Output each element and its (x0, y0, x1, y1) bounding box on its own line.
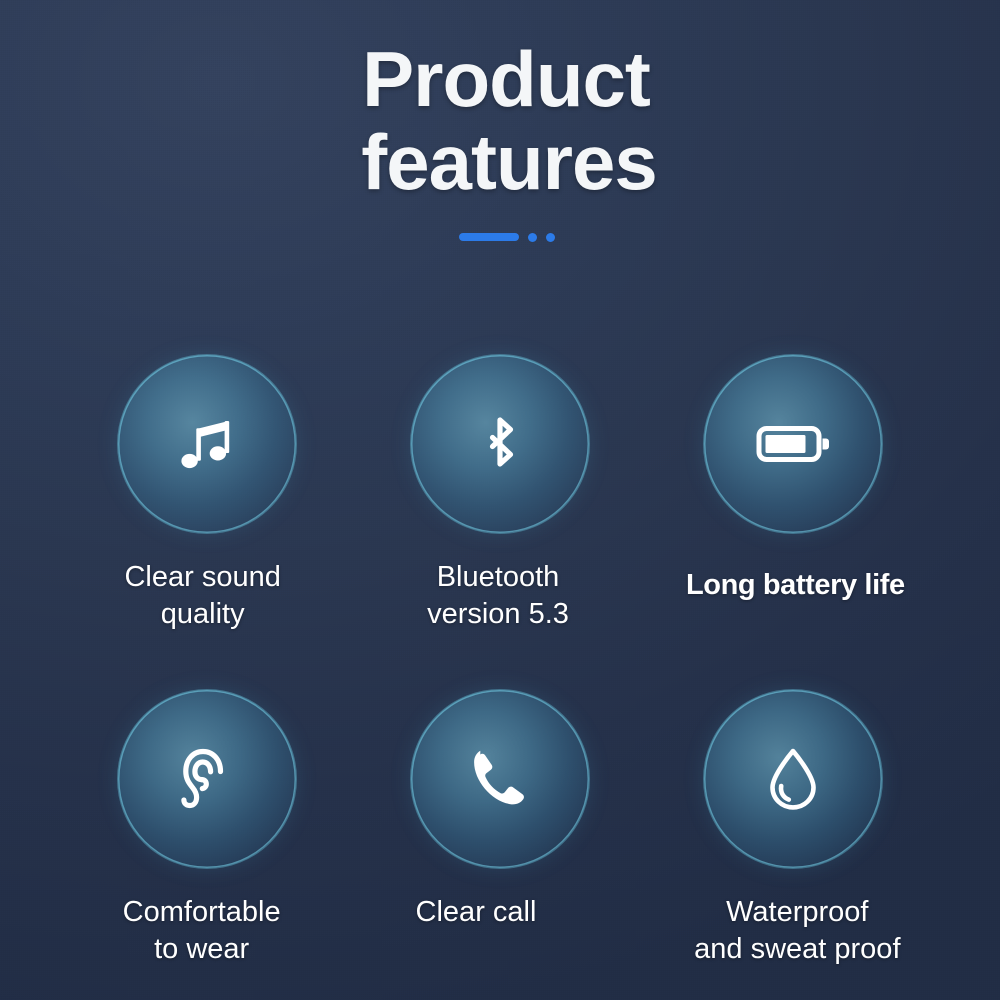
feature-item-waterproof: Waterproof and sweat proof (647, 690, 940, 1000)
feature-item-clear-call: Clear call (353, 690, 646, 1000)
feature-item-long-battery-life: Long battery life (647, 355, 940, 690)
feature-icon-circle (411, 690, 589, 868)
feature-caption: Clear call (416, 894, 537, 931)
feature-caption: Waterproof and sweat proof (694, 894, 900, 968)
ear-icon (171, 743, 243, 815)
header: Product features (0, 38, 1000, 242)
feature-caption: Bluetooth version 5.3 (427, 559, 569, 633)
feature-caption: Clear sound quality (124, 559, 280, 633)
feature-icon-circle (118, 690, 296, 868)
music-note-icon (170, 407, 244, 481)
phone-handset-icon (462, 741, 538, 817)
feature-item-bluetooth-version: Bluetooth version 5.3 (353, 355, 646, 690)
feature-caption: Comfortable to wear (123, 894, 281, 968)
divider-dot-1 (528, 233, 537, 242)
feature-grid: Clear sound quality Bluetooth version 5.… (60, 355, 940, 1000)
feature-caption: Long battery life (686, 567, 905, 604)
feature-item-clear-sound-quality: Clear sound quality (60, 355, 353, 690)
product-features-poster: Product features C (0, 0, 1000, 1000)
feature-item-comfortable-to-wear: Comfortable to wear (60, 690, 353, 1000)
divider-dot-2 (546, 233, 555, 242)
feature-icon-circle (118, 355, 296, 533)
battery-icon (752, 403, 834, 485)
feature-icon-circle (704, 690, 882, 868)
divider-bar (459, 233, 519, 241)
feature-icon-circle (411, 355, 589, 533)
water-drop-icon (757, 743, 829, 815)
title-divider (14, 233, 1000, 242)
page-title-line-2: features (18, 121, 1000, 204)
bluetooth-icon (462, 406, 538, 482)
feature-icon-circle (704, 355, 882, 533)
page-title-line-1: Product (12, 38, 1000, 121)
